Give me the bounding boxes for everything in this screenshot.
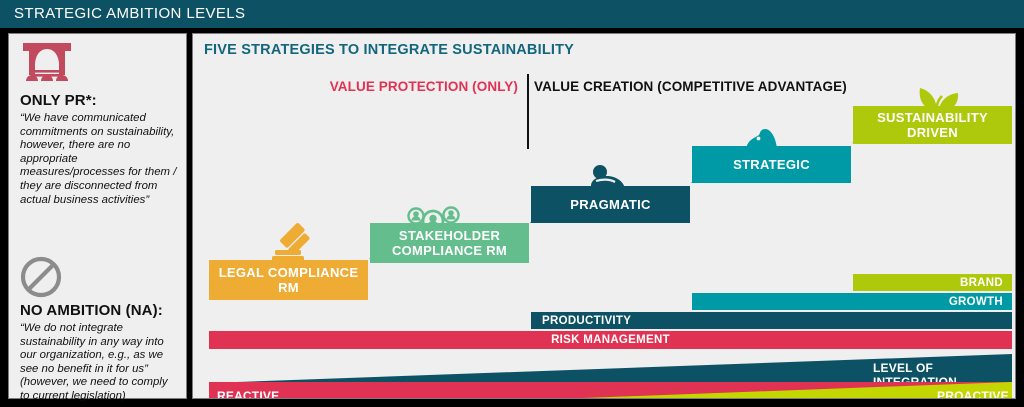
value-divider: [527, 74, 529, 149]
value-creation-label: VALUE CREATION (COMPETITIVE ADVANTAGE): [534, 79, 847, 94]
bar-label: RISK MANAGEMENT: [551, 334, 670, 346]
reactive-label: REACTIVE: [217, 389, 279, 399]
step-label: STAKEHOLDER COMPLIANCE RM: [374, 228, 525, 259]
bar-productivity[interactable]: PRODUCTIVITY: [531, 312, 1012, 329]
value-protection-label: VALUE PROTECTION (ONLY): [328, 79, 518, 94]
bar-brand[interactable]: BRAND: [853, 274, 1012, 291]
bar-risk-management[interactable]: RISK MANAGEMENT: [209, 331, 1012, 349]
slide-root: STRATEGIC AMBITION LEVELS ONLY PR*: “We …: [0, 0, 1024, 407]
main-panel: FIVE STRATEGIES TO INTEGRATE SUSTAINABIL…: [192, 33, 1016, 399]
bar-label: PRODUCTIVITY: [542, 315, 631, 327]
step-sustainability-driven[interactable]: SUSTAINABILITY DRIVEN: [853, 106, 1012, 144]
page-title: STRATEGIC AMBITION LEVELS: [14, 5, 245, 22]
no-ambition-quote: “We do not integrate sustainability in a…: [20, 322, 180, 404]
reactive-proactive-bar: [209, 382, 1012, 399]
proactive-label: PROACTIVE: [937, 389, 1009, 399]
bar-label: GROWTH: [949, 296, 1003, 308]
podium-pr-icon: [21, 41, 73, 91]
header-bar: STRATEGIC AMBITION LEVELS: [0, 0, 1024, 28]
sidebar-panel: ONLY PR*: “We have communicated commitme…: [8, 33, 187, 399]
step-label: LEGAL COMPLIANCE RM: [213, 265, 364, 296]
only-pr-heading: ONLY PR*:: [20, 92, 97, 109]
no-ambition-heading: NO AMBITION (NA):: [20, 302, 163, 319]
step-label: STRATEGIC: [733, 157, 810, 173]
bar-growth[interactable]: GROWTH: [692, 293, 1012, 310]
prohibition-icon: [20, 256, 62, 298]
bar-label: BRAND: [960, 277, 1003, 289]
step-pragmatic[interactable]: PRAGMATIC: [531, 186, 690, 223]
main-heading: FIVE STRATEGIES TO INTEGRATE SUSTAINABIL…: [204, 42, 574, 58]
step-label: PRAGMATIC: [570, 197, 650, 213]
step-stakeholder-compliance-rm[interactable]: STAKEHOLDER COMPLIANCE RM: [370, 223, 529, 263]
step-strategic[interactable]: STRATEGIC: [692, 146, 851, 183]
only-pr-quote: “We have communicated commitments on sus…: [20, 112, 180, 207]
step-legal-compliance-rm[interactable]: LEGAL COMPLIANCE RM: [209, 260, 368, 300]
step-label: SUSTAINABILITY DRIVEN: [857, 110, 1008, 141]
